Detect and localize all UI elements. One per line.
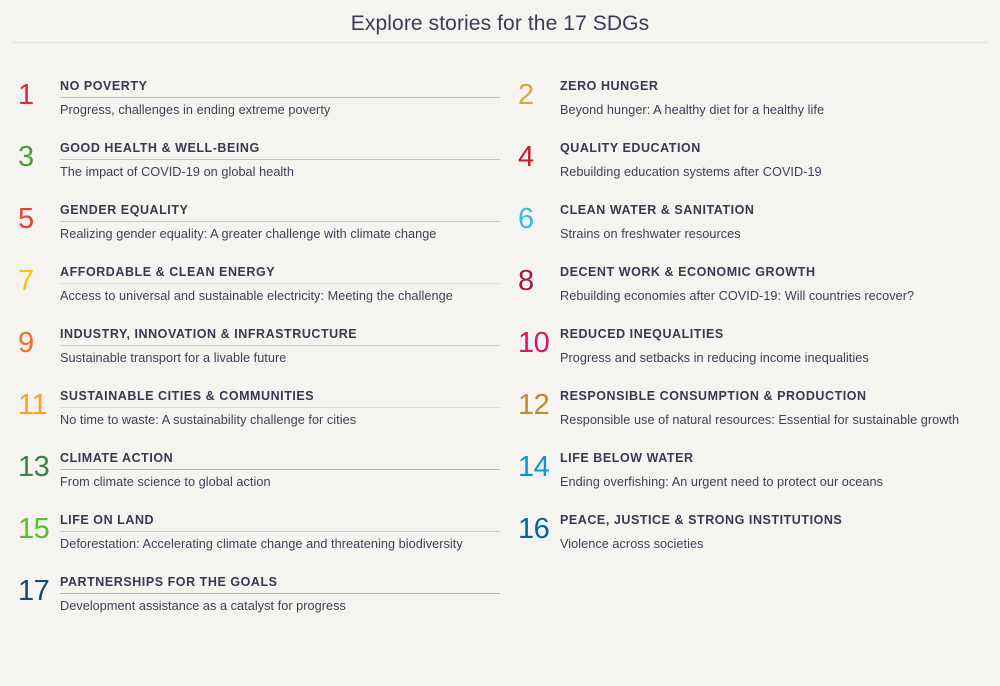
goals-column-right: 2ZERO HUNGERBeyond hunger: A healthy die…	[0, 76, 518, 634]
goal-number: 6	[518, 200, 560, 236]
goal-number: 10	[518, 324, 560, 360]
goals-grid: 1NO POVERTYProgress, challenges in endin…	[0, 76, 1000, 634]
goal-number: 14	[518, 448, 560, 484]
goal-number: 2	[518, 76, 560, 112]
goal-number: 16	[518, 510, 560, 546]
goal-number: 8	[518, 262, 560, 298]
sdg-explore-page: Explore stories for the 17 SDGs 1NO POVE…	[0, 0, 1000, 686]
header-divider	[12, 42, 988, 43]
goal-number: 4	[518, 138, 560, 174]
goal-number: 12	[518, 386, 560, 422]
page-title: Explore stories for the 17 SDGs	[0, 0, 1000, 39]
